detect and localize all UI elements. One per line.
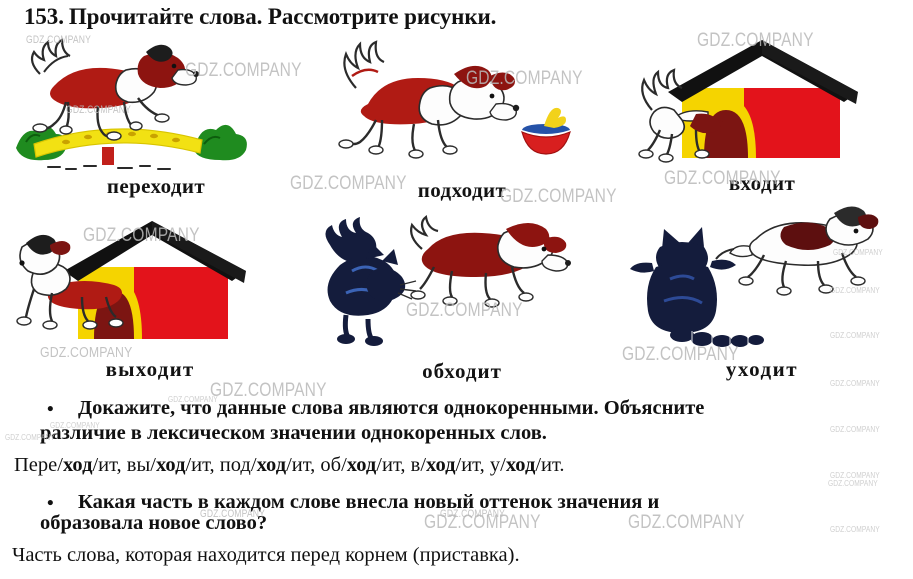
illustration-dog-approaching-bowl bbox=[312, 26, 612, 176]
picture-caption: подходит bbox=[312, 178, 612, 203]
page-title: 153.Прочитайте слова. Рассмотрите рисунк… bbox=[24, 4, 496, 30]
exercise-page: 153.Прочитайте слова. Рассмотрите рисунк… bbox=[0, 0, 913, 579]
illustration-dog-entering-doghouse bbox=[612, 26, 912, 176]
bullet-marker: • bbox=[47, 491, 54, 516]
morpheme-word: вы/ход/ит, bbox=[127, 454, 220, 476]
picture-caption: выходит bbox=[0, 357, 300, 382]
picture-card-perehodit: переходит bbox=[6, 26, 306, 211]
task-line-2: различие в лексическом значении однокоре… bbox=[40, 421, 913, 446]
morpheme-word: у/ход/ит. bbox=[490, 454, 565, 476]
morpheme-word: об/ход/ит, bbox=[320, 454, 410, 476]
morpheme-word: Пере/ход/ит, bbox=[14, 454, 127, 476]
picture-card-podhodit: подходит bbox=[312, 26, 612, 211]
picture-grid: переходит bbox=[0, 26, 913, 396]
exercise-title-text: Прочитайте слова. Рассмотрите рисунки. bbox=[69, 4, 496, 29]
text-content: • Докажите, что данные слова являются од… bbox=[0, 396, 913, 568]
picture-card-uhodit: уходит bbox=[612, 209, 912, 394]
morpheme-word: под/ход/ит, bbox=[220, 454, 321, 476]
answer-text: Часть слова, которая находится перед кор… bbox=[12, 542, 913, 568]
exercise-number: 153. bbox=[24, 4, 64, 29]
task-line-1: Какая часть в каждом слове внесла новый … bbox=[78, 491, 659, 513]
morpheme-analysis-line: Пере/ход/ит, вы/ход/ит, под/ход/ит, об/х… bbox=[14, 452, 913, 478]
picture-card-obhodit: обходит bbox=[312, 209, 612, 394]
picture-caption: входит bbox=[612, 171, 912, 196]
task-item-2: • Какая часть в каждом слове внесла новы… bbox=[0, 490, 913, 536]
picture-caption: уходит bbox=[612, 357, 912, 382]
illustration-dog-walking-around-cat bbox=[312, 209, 612, 359]
picture-caption: переходит bbox=[6, 174, 306, 199]
task-item-1: • Докажите, что данные слова являются од… bbox=[0, 396, 913, 446]
illustration-dog-crossing-bridge bbox=[6, 26, 306, 176]
illustration-dog-leaving-cat bbox=[612, 209, 912, 359]
bullet-marker: • bbox=[47, 397, 54, 422]
picture-card-vhodit: входит bbox=[612, 26, 912, 211]
morpheme-word: в/ход/ит, bbox=[411, 454, 490, 476]
picture-caption: обходит bbox=[312, 359, 612, 384]
task-line-1: Докажите, что данные слова являются одно… bbox=[78, 397, 704, 419]
task-line-2: образовала новое слово? bbox=[40, 511, 913, 536]
picture-card-vyhodit: выходит bbox=[0, 209, 300, 394]
illustration-dog-exiting-doghouse bbox=[0, 209, 300, 359]
